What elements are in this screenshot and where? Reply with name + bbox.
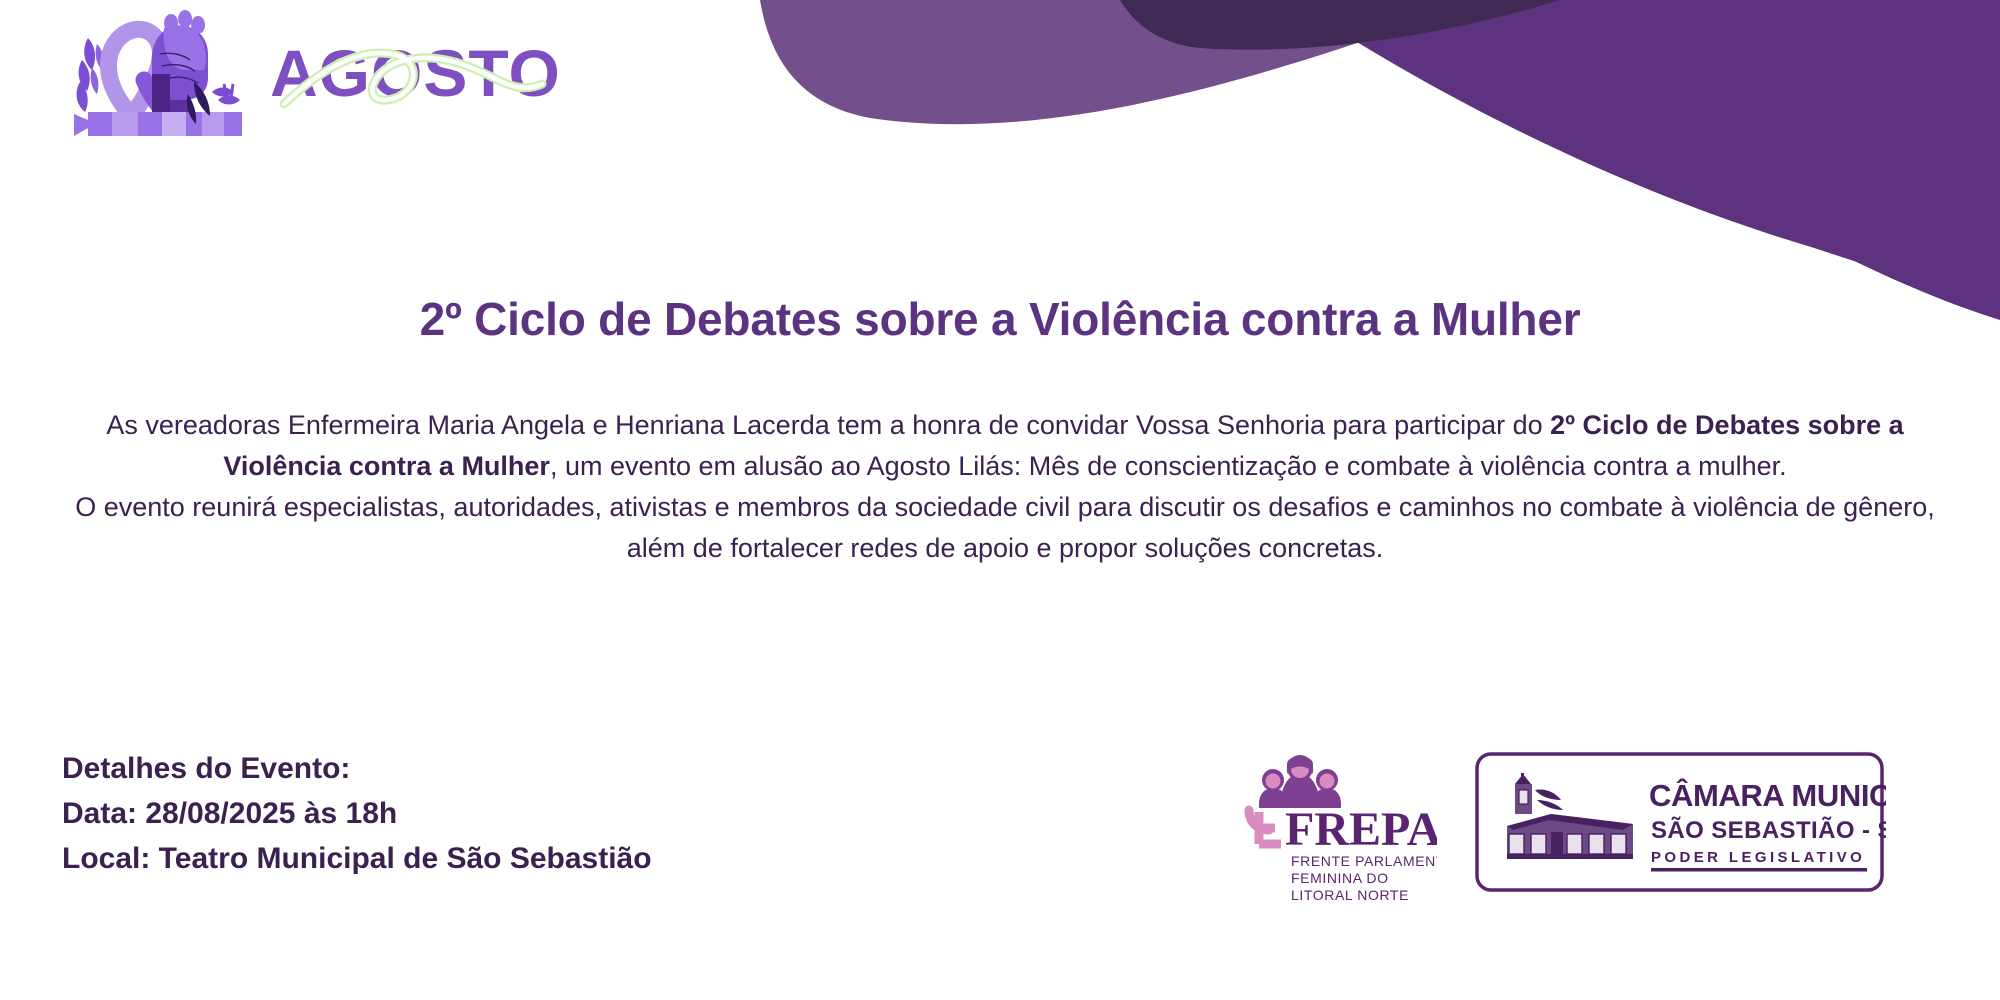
wave-left-light [780, 0, 1430, 121]
wave-left-light-extended [760, 0, 1480, 124]
three-women-icon [1259, 755, 1341, 808]
frepaf-line-3: LITORAL NORTE [1291, 887, 1409, 903]
page-title: 2º Ciclo de Debates sobre a Violência co… [0, 292, 2000, 346]
camara-line-1: CÂMARA MUNICIPAL [1649, 777, 1886, 813]
details-date: Data: 28/08/2025 às 18h [62, 791, 652, 836]
agosto-lilas-logo: AGOSTO Lilás [52, 8, 572, 138]
event-details: Detalhes do Evento: Data: 28/08/2025 às … [62, 746, 652, 881]
frepaf-line-2: FEMININA DO [1291, 870, 1389, 886]
wave-overlap-wedge [1120, 0, 1560, 50]
camara-municipal-logo: CÂMARA MUNICIPAL SÃO SEBASTIÃO - SP PODE… [1473, 748, 1886, 898]
purple-ribbon-fist-icon [52, 8, 262, 138]
invitation-body: As vereadoras Enfermeira Maria Angela e … [60, 405, 1950, 569]
body-segment-2: , um evento em alusão ao Agosto Lilás: M… [550, 451, 1787, 481]
body-segment-1: As vereadoras Enfermeira Maria Angela e … [106, 410, 1550, 440]
camara-line-2: SÃO SEBASTIÃO - SP [1651, 816, 1886, 844]
wave-right-body [1300, 0, 2000, 300]
body-segment-3: O evento reunirá especialistas, autorida… [75, 492, 1935, 563]
wave-right-dark [1330, 0, 2000, 300]
wave-right-dark-lower [1560, 20, 2000, 320]
details-location: Local: Teatro Municipal de São Sebastião [62, 836, 652, 881]
camara-underline [1651, 868, 1867, 872]
wave-right-sweep [1290, 0, 2000, 292]
agosto-lilas-wordmark: AGOSTO Lilás [266, 18, 566, 128]
frepaf-line-1: FRENTE PARLAMENTAR [1291, 853, 1437, 869]
frepaf-logo: FREPAF FRENTE PARLAMENTAR FEMININA DO LI… [1237, 752, 1437, 910]
frepaf-acronym: FREPAF [1285, 803, 1437, 856]
details-heading: Detalhes do Evento: [62, 746, 652, 791]
camara-line-3: PODER LEGISLATIVO [1651, 849, 1865, 866]
